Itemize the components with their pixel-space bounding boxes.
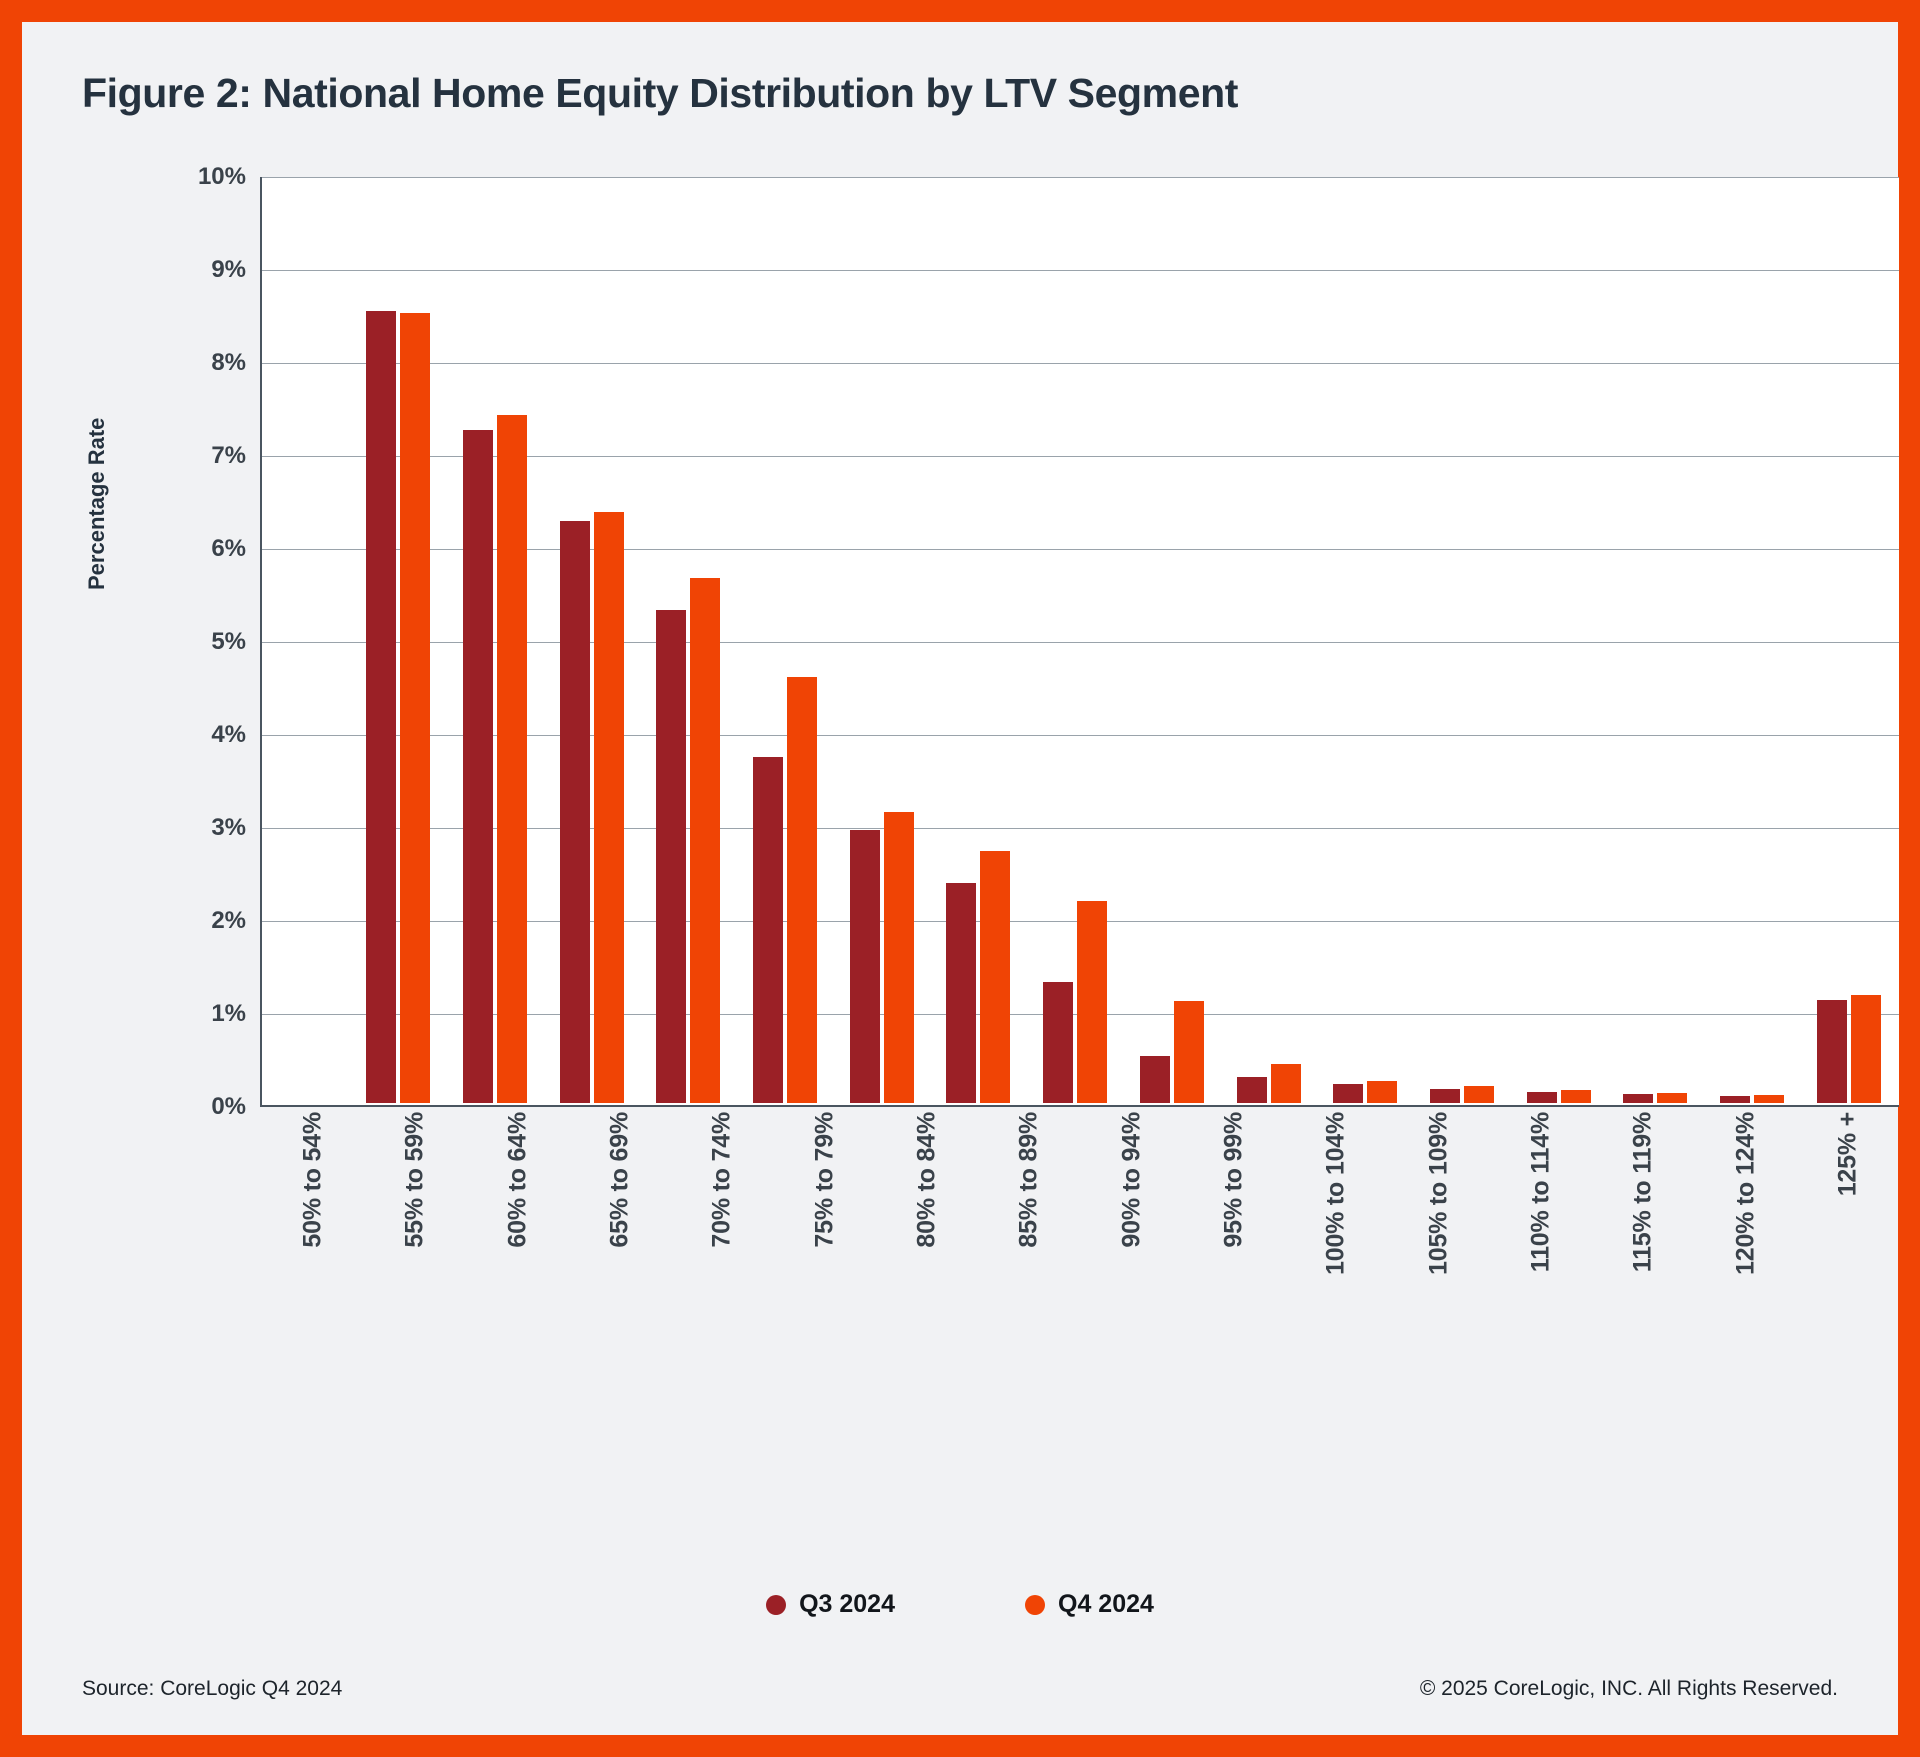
y-tick-label: 10%	[136, 163, 246, 191]
x-tick-label: 80% to 84%	[913, 1112, 942, 1248]
x-tick: 65% to 69%	[569, 1112, 671, 1342]
bar-q3[interactable]	[850, 830, 880, 1103]
bar-q3[interactable]	[1527, 1092, 1557, 1103]
bar-q3[interactable]	[463, 430, 493, 1103]
bar-q4[interactable]	[1561, 1090, 1591, 1103]
y-tick-label: 3%	[136, 814, 246, 842]
x-tick-label: 85% to 89%	[1015, 1112, 1044, 1248]
bar-group	[1414, 177, 1511, 1103]
bar-q4[interactable]	[787, 677, 817, 1103]
x-tick-label: 70% to 74%	[708, 1112, 737, 1248]
bar-q3[interactable]	[366, 311, 396, 1103]
bar-group	[1800, 177, 1897, 1103]
x-tick-label: 105% to 109%	[1424, 1112, 1453, 1275]
x-tick-label: 95% to 99%	[1219, 1112, 1248, 1248]
y-tick-label: 0%	[136, 1093, 246, 1121]
x-tick: 110% to 114%	[1490, 1112, 1592, 1342]
bar-q3[interactable]	[1237, 1077, 1267, 1103]
legend-label: Q4 2024	[1058, 1590, 1154, 1619]
y-tick-label: 8%	[136, 349, 246, 377]
x-tick: 55% to 59%	[364, 1112, 466, 1342]
bar-q3[interactable]	[1333, 1084, 1363, 1103]
y-axis-title: Percentage Rate	[84, 250, 110, 590]
x-tick: 100% to 104%	[1285, 1112, 1387, 1342]
legend-marker-circle-icon	[1025, 1595, 1045, 1615]
plot-wrapper: 0%1%2%3%4%5%6%7%8%9%10%	[174, 177, 1899, 1107]
y-tick-label: 1%	[136, 1000, 246, 1028]
x-tick: 115% to 119%	[1592, 1112, 1694, 1342]
x-tick: 85% to 89%	[978, 1112, 1080, 1342]
legend-item[interactable]: Q3 2024	[766, 1590, 895, 1619]
bar-group	[1027, 177, 1124, 1103]
x-tick: 75% to 79%	[774, 1112, 876, 1342]
legend-marker-circle-icon	[766, 1595, 786, 1615]
x-tick-label: 120% to 124%	[1731, 1112, 1760, 1275]
bar-group	[543, 177, 640, 1103]
bar-q3[interactable]	[656, 610, 686, 1103]
y-tick-label: 9%	[136, 256, 246, 284]
x-tick-label: 75% to 79%	[810, 1112, 839, 1248]
bar-q4[interactable]	[1851, 995, 1881, 1103]
bar-q4[interactable]	[497, 415, 527, 1103]
bar-q3[interactable]	[560, 521, 590, 1103]
bar-q4[interactable]	[1077, 901, 1107, 1103]
bar-group	[1510, 177, 1607, 1103]
x-tick: 90% to 94%	[1081, 1112, 1183, 1342]
chart-legend: Q3 2024Q4 2024	[22, 1590, 1898, 1619]
x-tick-label: 115% to 119%	[1629, 1112, 1658, 1272]
y-tick-label: 5%	[136, 628, 246, 656]
y-tick-label: 6%	[136, 535, 246, 563]
x-tick-label: 90% to 94%	[1117, 1112, 1146, 1248]
bar-group	[1704, 177, 1801, 1103]
copyright-note: © 2025 CoreLogic, INC. All Rights Reserv…	[1420, 1677, 1838, 1701]
bar-group	[833, 177, 930, 1103]
x-tick: 80% to 84%	[876, 1112, 978, 1342]
x-tick: 105% to 109%	[1387, 1112, 1489, 1342]
x-tick-label: 65% to 69%	[606, 1112, 635, 1248]
x-tick-label: 110% to 114%	[1526, 1112, 1555, 1272]
bar-q3[interactable]	[1430, 1089, 1460, 1103]
bar-q3[interactable]	[1623, 1094, 1653, 1103]
bar-q3[interactable]	[753, 757, 783, 1103]
bar-q3[interactable]	[1817, 1000, 1847, 1103]
bar-q4[interactable]	[884, 812, 914, 1103]
bar-q3[interactable]	[946, 883, 976, 1103]
y-tick-label: 7%	[136, 442, 246, 470]
bar-group	[1607, 177, 1704, 1103]
x-tick: 60% to 64%	[467, 1112, 569, 1342]
bar-q4[interactable]	[1174, 1001, 1204, 1103]
bar-group	[1220, 177, 1317, 1103]
x-tick: 50% to 54%	[262, 1112, 364, 1342]
figure-page: Figure 2: National Home Equity Distribut…	[0, 0, 1920, 1757]
x-tick: 70% to 74%	[671, 1112, 773, 1342]
bar-group	[737, 177, 834, 1103]
x-tick-label: 100% to 104%	[1322, 1112, 1351, 1275]
x-axis-ticks: 50% to 54%55% to 59%60% to 64%65% to 69%…	[262, 1112, 1899, 1342]
bar-group	[930, 177, 1027, 1103]
bar-q4[interactable]	[1464, 1086, 1494, 1103]
source-note: Source: CoreLogic Q4 2024	[82, 1677, 342, 1701]
bar-groups	[350, 177, 1897, 1103]
bar-q4[interactable]	[400, 313, 430, 1104]
x-tick-label: 50% to 54%	[299, 1112, 328, 1248]
bar-q4[interactable]	[594, 512, 624, 1103]
figure-card: Figure 2: National Home Equity Distribut…	[22, 22, 1898, 1735]
bar-q4[interactable]	[1657, 1093, 1687, 1103]
bar-q4[interactable]	[1754, 1095, 1784, 1103]
x-tick: 125% +	[1797, 1112, 1899, 1342]
bar-q4[interactable]	[980, 851, 1010, 1103]
bar-q4[interactable]	[690, 578, 720, 1103]
x-tick-label: 125% +	[1833, 1112, 1862, 1196]
x-tick: 120% to 124%	[1694, 1112, 1796, 1342]
bar-q4[interactable]	[1367, 1081, 1397, 1103]
page-title: Figure 2: National Home Equity Distribut…	[82, 70, 1238, 117]
y-tick-label: 2%	[136, 907, 246, 935]
bar-group	[640, 177, 737, 1103]
bar-group	[1317, 177, 1414, 1103]
x-tick-label: 60% to 64%	[503, 1112, 532, 1248]
bar-group	[1124, 177, 1221, 1103]
x-tick-label: 55% to 59%	[401, 1112, 430, 1248]
legend-label: Q3 2024	[799, 1590, 895, 1619]
bar-q3[interactable]	[1720, 1096, 1750, 1103]
y-tick-label: 4%	[136, 721, 246, 749]
bar-group	[447, 177, 544, 1103]
legend-item[interactable]: Q4 2024	[1025, 1590, 1154, 1619]
bar-q4[interactable]	[1271, 1064, 1301, 1103]
plot-area	[260, 177, 1899, 1107]
x-tick: 95% to 99%	[1183, 1112, 1285, 1342]
bar-q3[interactable]	[1043, 982, 1073, 1103]
bar-q3[interactable]	[1140, 1056, 1170, 1103]
bar-group	[350, 177, 447, 1103]
